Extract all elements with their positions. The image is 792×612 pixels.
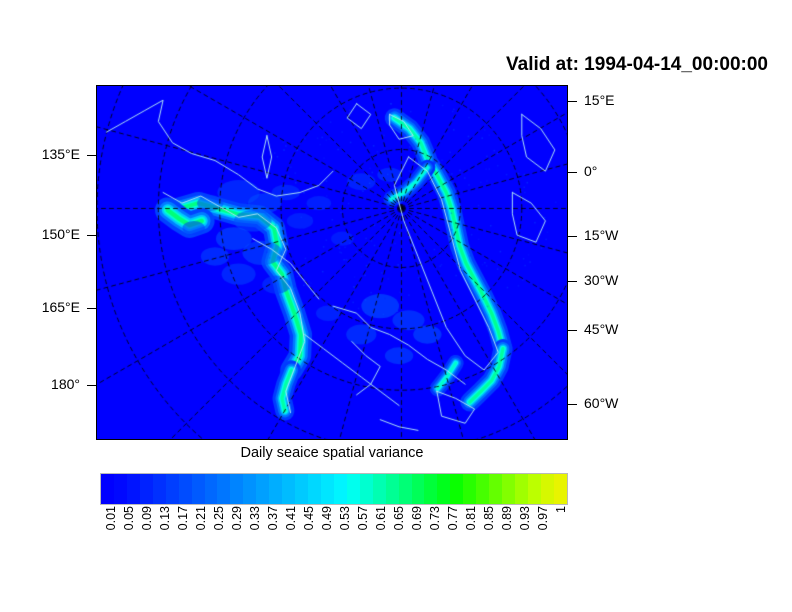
colorbar-tick-labels: 0.010.050.090.130.170.210.250.290.330.37… bbox=[100, 506, 568, 576]
colorbar-tick-label: 0.41 bbox=[284, 506, 298, 530]
colorbar-tick-label: 0.13 bbox=[158, 506, 172, 530]
colorbar-gradient bbox=[100, 473, 568, 505]
colorbar-swatch bbox=[386, 474, 399, 504]
colorbar-swatch bbox=[399, 474, 412, 504]
colorbar-swatch bbox=[140, 474, 153, 504]
seaice-variance-raster bbox=[97, 86, 568, 440]
colorbar-swatch bbox=[412, 474, 425, 504]
colorbar-swatch bbox=[489, 474, 502, 504]
colorbar-tick-label: 0.97 bbox=[536, 506, 550, 530]
colorbar-swatch bbox=[373, 474, 386, 504]
colorbar-swatch bbox=[295, 474, 308, 504]
axis-tick-left bbox=[87, 235, 96, 236]
colorbar-tick-label: 0.45 bbox=[302, 506, 316, 530]
map-plot-area bbox=[96, 85, 568, 440]
map-caption: Daily seaice spatial variance bbox=[96, 445, 568, 461]
colorbar-swatch bbox=[463, 474, 476, 504]
colorbar-swatch bbox=[192, 474, 205, 504]
colorbar-tick-label: 0.01 bbox=[104, 506, 118, 530]
colorbar-swatch bbox=[256, 474, 269, 504]
colorbar-swatch bbox=[502, 474, 515, 504]
colorbar-tick-label: 0.29 bbox=[230, 506, 244, 530]
colorbar-tick-label: 0.69 bbox=[410, 506, 424, 530]
colorbar-swatch bbox=[437, 474, 450, 504]
colorbar-tick-label: 0.57 bbox=[356, 506, 370, 530]
axis-label-right: 0° bbox=[584, 163, 597, 179]
colorbar-tick-label: 0.09 bbox=[140, 506, 154, 530]
colorbar-swatch bbox=[101, 474, 114, 504]
colorbar-tick-label: 0.77 bbox=[446, 506, 460, 530]
colorbar-swatch bbox=[347, 474, 360, 504]
axis-tick-right bbox=[568, 330, 577, 331]
colorbar-swatch bbox=[515, 474, 528, 504]
axis-label-right: 15°W bbox=[584, 227, 618, 243]
colorbar-tick-label: 0.53 bbox=[338, 506, 352, 530]
axis-label-left: 150°E bbox=[42, 226, 80, 242]
colorbar-swatch bbox=[321, 474, 334, 504]
axis-label-left: 135°E bbox=[42, 146, 80, 162]
colorbar-tick-label: 0.21 bbox=[194, 506, 208, 530]
axis-label-right: 60°W bbox=[584, 395, 618, 411]
colorbar-tick-label: 0.61 bbox=[374, 506, 388, 530]
axis-tick-right bbox=[568, 281, 577, 282]
axis-label-left: 165°E bbox=[42, 299, 80, 315]
colorbar-swatch bbox=[217, 474, 230, 504]
colorbar-tick-label: 0.17 bbox=[176, 506, 190, 530]
colorbar-tick-label: 0.25 bbox=[212, 506, 226, 530]
colorbar-tick-label: 0.65 bbox=[392, 506, 406, 530]
axis-label-right: 30°W bbox=[584, 272, 618, 288]
colorbar-tick-label: 0.33 bbox=[248, 506, 262, 530]
colorbar-swatch bbox=[153, 474, 166, 504]
axis-tick-right bbox=[568, 101, 577, 102]
colorbar-tick-label: 0.49 bbox=[320, 506, 334, 530]
colorbar-tick-label: 0.05 bbox=[122, 506, 136, 530]
axis-tick-left bbox=[87, 155, 96, 156]
colorbar-swatch bbox=[205, 474, 218, 504]
axis-tick-left bbox=[87, 385, 96, 386]
colorbar-tick-label: 0.37 bbox=[266, 506, 280, 530]
colorbar-tick-label: 1 bbox=[554, 506, 568, 513]
colorbar-tick-label: 0.93 bbox=[518, 506, 532, 530]
colorbar-swatch bbox=[541, 474, 554, 504]
axis-tick-left bbox=[87, 308, 96, 309]
colorbar-swatch bbox=[243, 474, 256, 504]
colorbar-swatch bbox=[528, 474, 541, 504]
colorbar-swatch bbox=[554, 474, 567, 504]
axis-tick-right bbox=[568, 172, 577, 173]
colorbar-swatch bbox=[308, 474, 321, 504]
colorbar-tick-label: 0.89 bbox=[500, 506, 514, 530]
colorbar-swatch bbox=[127, 474, 140, 504]
axis-label-left: 180° bbox=[51, 376, 80, 392]
colorbar-swatch bbox=[179, 474, 192, 504]
colorbar bbox=[100, 473, 568, 505]
colorbar-swatch bbox=[476, 474, 489, 504]
colorbar-swatch bbox=[450, 474, 463, 504]
colorbar-swatch bbox=[269, 474, 282, 504]
axis-tick-right bbox=[568, 236, 577, 237]
colorbar-tick-label: 0.73 bbox=[428, 506, 442, 530]
colorbar-swatch bbox=[166, 474, 179, 504]
axis-label-right: 45°W bbox=[584, 321, 618, 337]
axis-label-right: 15°E bbox=[584, 92, 615, 108]
page-title: Valid at: 1994-04-14_00:00:00 bbox=[0, 54, 768, 76]
colorbar-tick-label: 0.81 bbox=[464, 506, 478, 530]
colorbar-swatch bbox=[424, 474, 437, 504]
colorbar-swatch bbox=[230, 474, 243, 504]
colorbar-swatch bbox=[360, 474, 373, 504]
colorbar-swatch bbox=[114, 474, 127, 504]
colorbar-tick-label: 0.85 bbox=[482, 506, 496, 530]
colorbar-swatch bbox=[334, 474, 347, 504]
axis-tick-right bbox=[568, 404, 577, 405]
colorbar-swatch bbox=[282, 474, 295, 504]
